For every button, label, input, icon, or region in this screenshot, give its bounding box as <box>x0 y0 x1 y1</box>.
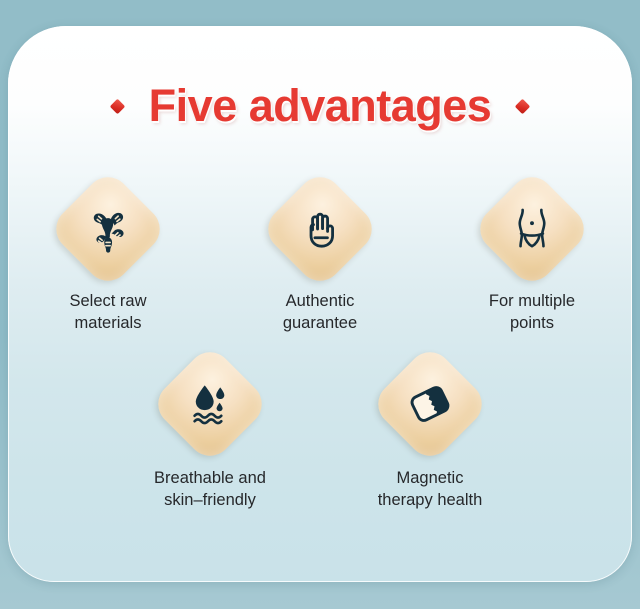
feature-tile <box>47 168 169 290</box>
feature-label: Breathable and skin–friendly <box>154 467 266 511</box>
feature-tile <box>259 168 381 290</box>
water-drop-waves-icon <box>182 376 238 432</box>
feature-row-top: Select raw materials Authent <box>0 186 640 334</box>
feature-label: For multiple points <box>489 290 575 334</box>
feature-for-multiple-points: For multiple points <box>457 186 607 334</box>
diamond-dot-right-icon <box>515 98 531 114</box>
feature-tile <box>149 343 271 465</box>
feature-label: Select raw materials <box>69 290 146 334</box>
feature-row-bottom: Breathable and skin–friendly Magnetic th… <box>0 361 640 511</box>
feature-tile <box>369 343 491 465</box>
waist-body-icon <box>504 201 560 257</box>
title-row: Five advantages <box>0 80 640 132</box>
feature-magnetic-therapy-health: Magnetic therapy health <box>355 361 505 511</box>
feature-authentic-guarantee: Authentic guarantee <box>245 186 395 334</box>
magnetic-patch-icon <box>402 376 458 432</box>
ginger-root-icon <box>80 201 136 257</box>
feature-select-raw-materials: Select raw materials <box>33 186 183 334</box>
open-hand-icon <box>292 201 348 257</box>
page-title: Five advantages <box>149 80 492 132</box>
feature-label: Authentic guarantee <box>283 290 357 334</box>
diamond-dot-left-icon <box>109 98 125 114</box>
feature-tile <box>471 168 593 290</box>
feature-breathable-skin-friendly: Breathable and skin–friendly <box>135 361 285 511</box>
feature-label: Magnetic therapy health <box>378 467 483 511</box>
promo-banner: Five advantages <box>0 0 640 609</box>
